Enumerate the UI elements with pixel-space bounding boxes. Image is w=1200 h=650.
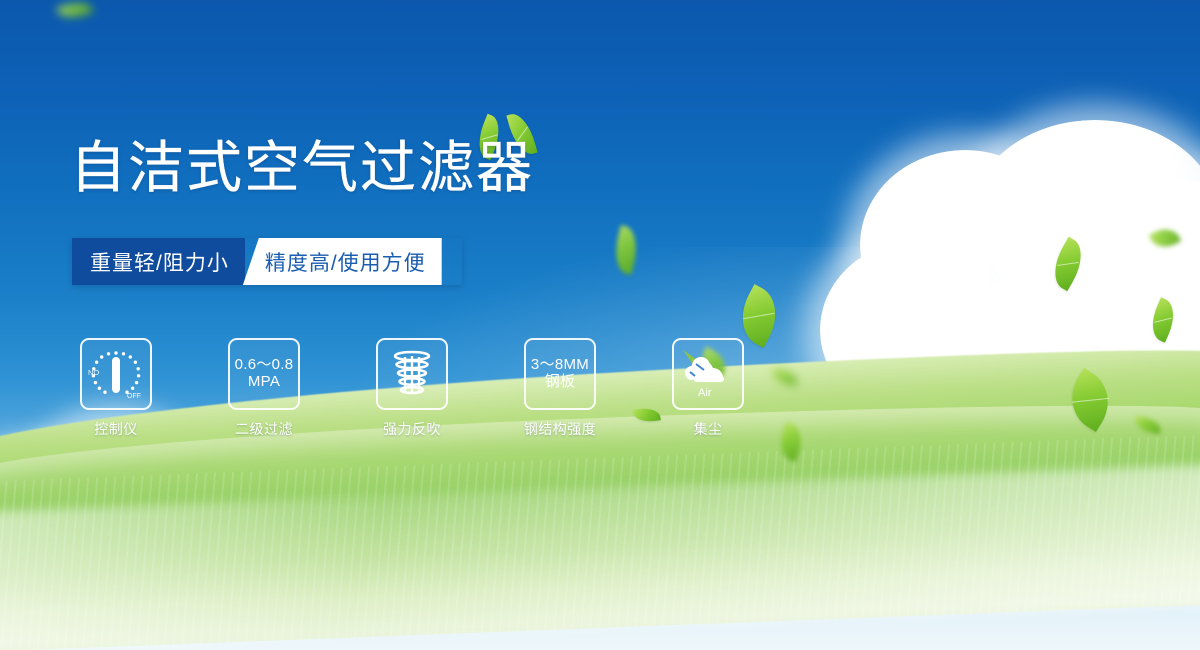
feature-label: 集尘 [694, 419, 723, 439]
pressure-range-line2: MPA [248, 374, 280, 391]
filter-cartridge-icon [376, 338, 448, 410]
subtitle-bar: 重量轻/阻力小 精度高/使用方便 [72, 238, 462, 285]
feature-label: 钢结构强度 [524, 419, 597, 439]
feature-item-pressure[interactable]: 0.6～0.8 MPA 二级过滤 [228, 338, 300, 439]
steel-thickness-line1: 3～8MM [531, 357, 589, 374]
subtitle-left: 重量轻/阻力小 [72, 238, 245, 285]
product-banner: 自洁式空气过滤器 重量轻/阻力小 精度高/使用方便 [0, 0, 1200, 650]
feature-list: NO OFF 控制仪 0.6～0.8 MPA 二级过滤 [80, 338, 744, 439]
steel-plate-icon: 3～8MM 钢板 [524, 338, 596, 410]
page-title: 自洁式空气过滤器 [70, 140, 534, 196]
steel-thickness-line2: 钢板 [545, 374, 576, 391]
svg-text:NO: NO [88, 368, 99, 377]
subtitle-right: 精度高/使用方便 [243, 238, 442, 285]
pressure-value-icon: 0.6～0.8 MPA [228, 338, 300, 410]
feature-item-controller[interactable]: NO OFF 控制仪 [80, 338, 152, 439]
svg-text:OFF: OFF [127, 393, 141, 400]
feature-item-blowback[interactable]: 强力反吹 [376, 338, 448, 439]
feature-label: 强力反吹 [383, 419, 441, 439]
cloud-air-icon: Air [672, 338, 744, 410]
feature-label: 控制仪 [94, 419, 138, 439]
feature-label: 二级过滤 [235, 419, 293, 439]
air-label: Air [698, 387, 712, 399]
gauge-icon: NO OFF [80, 338, 152, 410]
feature-item-steel[interactable]: 3～8MM 钢板 钢结构强度 [524, 338, 596, 439]
pressure-range-line1: 0.6～0.8 [235, 357, 294, 374]
feature-item-dust[interactable]: Air 集尘 [672, 338, 744, 439]
